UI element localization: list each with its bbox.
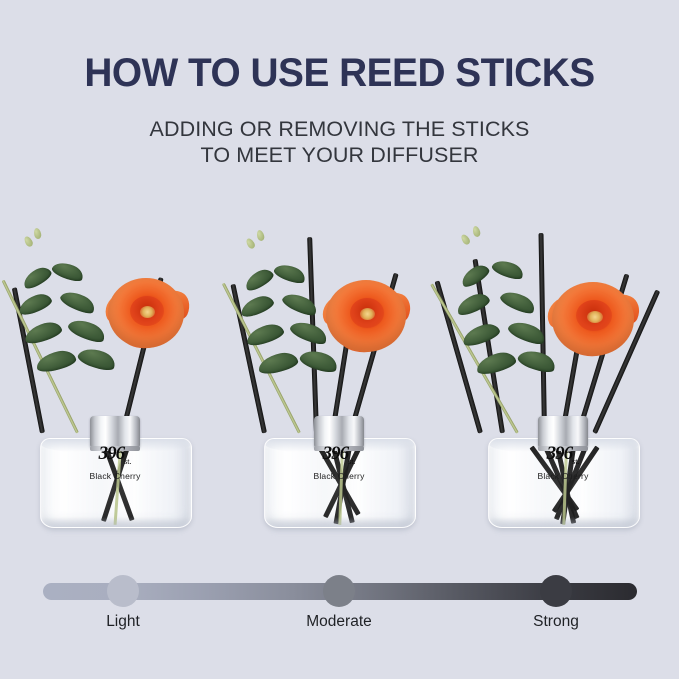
eucalyptus-leaf xyxy=(242,266,276,293)
brand-suffix: st. xyxy=(348,457,355,466)
scale-label-light: Light xyxy=(106,613,140,631)
scale-dot-moderate[interactable] xyxy=(323,575,355,607)
eucalyptus-bud xyxy=(245,237,257,250)
eucalyptus-bud xyxy=(256,229,265,241)
eucalyptus-bud xyxy=(460,233,472,246)
eucalyptus-leaf xyxy=(244,321,285,348)
eucalyptus-leaf xyxy=(474,349,517,376)
scent-name: Black Cherry xyxy=(488,471,638,481)
diffuser-strong: 396st. Black Cherry xyxy=(450,218,676,558)
diffuser-light: 396st. Black Cherry xyxy=(2,218,228,558)
diffuser-bottle: 396st. Black Cherry xyxy=(40,416,190,536)
brand-name: 396st. xyxy=(40,444,190,466)
brand-suffix: st. xyxy=(124,457,131,466)
brand-name: 396st. xyxy=(264,444,414,466)
scale-label-moderate: Moderate xyxy=(306,613,371,631)
page-subtitle: ADDING OR REMOVING THE STICKS TO MEET YO… xyxy=(0,94,679,168)
eucalyptus-leaf xyxy=(458,262,491,290)
eucalyptus-bud xyxy=(23,235,35,248)
rose-flower xyxy=(326,280,406,352)
diffuser-bottle: 396st. Black Cherry xyxy=(488,416,638,536)
eucalyptus-leaf xyxy=(22,319,63,346)
reed-arrangement-strong xyxy=(450,218,676,433)
eucalyptus-leaf xyxy=(490,257,525,283)
eucalyptus-bud xyxy=(33,227,42,239)
scale-dot-strong[interactable] xyxy=(540,575,572,607)
eucalyptus-leaf xyxy=(288,317,330,348)
eucalyptus-leaf xyxy=(66,315,108,346)
eucalyptus-leaf xyxy=(498,287,537,317)
glass-bottom-edge xyxy=(265,517,415,527)
rose-stamen xyxy=(360,308,375,320)
subtitle-line-1: ADDING OR REMOVING THE STICKS xyxy=(0,116,679,142)
eucalyptus-leaf xyxy=(272,261,307,287)
eucalyptus-bud xyxy=(472,225,481,237)
glass-bottom-edge xyxy=(41,517,191,527)
eucalyptus-leaf xyxy=(50,259,85,285)
diffuser-moderate: 396st. Black Cherry xyxy=(226,218,452,558)
rose-flower xyxy=(552,282,634,356)
eucalyptus-leaf xyxy=(238,293,275,320)
scent-name: Black Cherry xyxy=(40,471,190,481)
reed-arrangement-light xyxy=(2,218,228,433)
eucalyptus-leaf xyxy=(16,291,53,318)
eucalyptus-leaf xyxy=(460,321,501,349)
brand-name: 396st. xyxy=(488,444,638,466)
bottle-label: 396st. Black Cherry xyxy=(40,444,190,481)
header: HOW TO USE REED STICKS ADDING OR REMOVIN… xyxy=(0,0,679,168)
scent-name: Black Cherry xyxy=(264,471,414,481)
intensity-scale: Light Moderate Strong xyxy=(0,565,679,655)
rose-flower xyxy=(108,278,184,348)
eucalyptus-leaf xyxy=(76,344,118,374)
subtitle-line-2: TO MEET YOUR DIFFUSER xyxy=(0,142,679,168)
rose-stamen xyxy=(587,311,603,323)
rose-stamen xyxy=(140,306,155,318)
eucalyptus-leaf xyxy=(58,287,97,317)
eucalyptus-leaf xyxy=(20,264,54,291)
scale-label-strong: Strong xyxy=(533,613,579,631)
eucalyptus-leaf xyxy=(35,348,78,374)
page-title: HOW TO USE REED STICKS xyxy=(10,0,669,94)
bottle-label: 396st. Black Cherry xyxy=(488,444,638,481)
eucalyptus-leaf xyxy=(257,350,300,376)
scale-dot-light[interactable] xyxy=(107,575,139,607)
reed-arrangement-moderate xyxy=(226,218,452,433)
diffuser-bottle: 396st. Black Cherry xyxy=(264,416,414,536)
bottle-label: 396st. Black Cherry xyxy=(264,444,414,481)
product-comparison-row: 396st. Black Cherry xyxy=(0,218,679,558)
brand-suffix: st. xyxy=(572,457,579,466)
glass-bottom-edge xyxy=(489,517,639,527)
